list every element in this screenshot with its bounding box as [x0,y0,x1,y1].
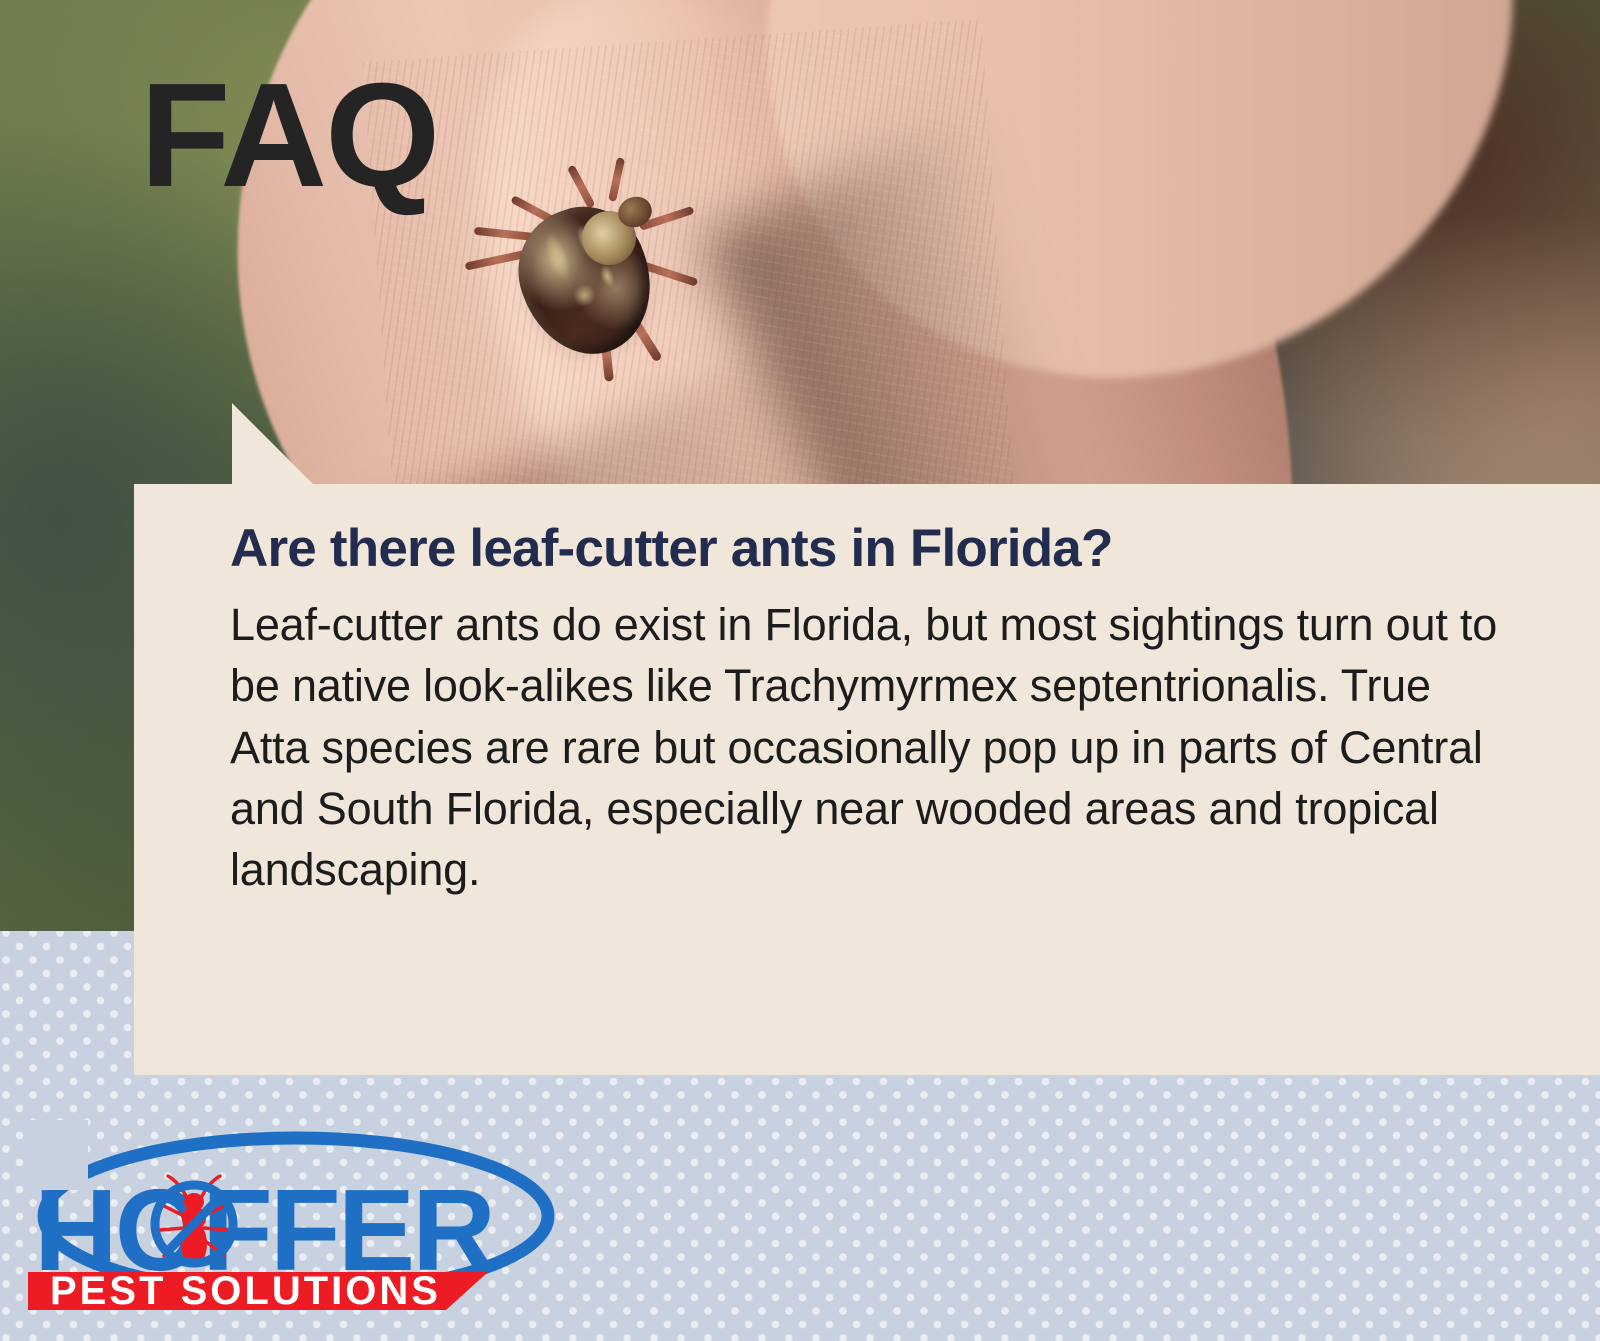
tick-icon [500,175,710,370]
faq-card: Are there leaf-cutter ants in Florida? L… [134,484,1600,1075]
faq-answer: Leaf-cutter ants do exist in Florida, bu… [230,594,1504,900]
faq-poster: FAQ Are there leaf-cutter ants in Florid… [0,0,1600,1341]
faq-question: Are there leaf-cutter ants in Florida? [230,520,1504,578]
logo-svg: HOFFER PEST SOLUTIONS [28,1120,568,1310]
logo-tagline-text: PEST SOLUTIONS [50,1269,441,1310]
hoffer-pest-solutions-logo[interactable]: HOFFER PEST SOLUTIONS [28,1120,568,1310]
faq-kicker: FAQ [140,62,438,210]
